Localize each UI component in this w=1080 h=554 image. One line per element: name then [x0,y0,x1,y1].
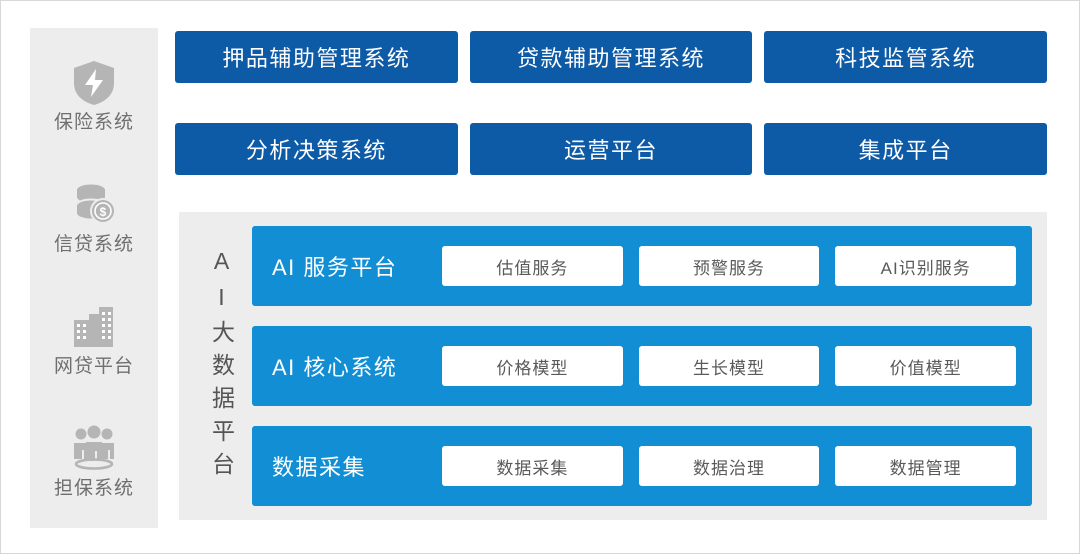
system-button-operations-platform[interactable]: 运营平台 [470,123,753,175]
ai-row-data-collection: 数据采集 数据采集 数据治理 数据管理 [252,426,1032,506]
ai-platform-vertical-label: AI大数据平台 [194,226,248,506]
diagram-frame: 保险系统 $ 信贷系统 [0,0,1080,554]
card-data-governance[interactable]: 数据治理 [639,446,820,486]
ai-row-label: AI 核心系统 [272,350,442,382]
people-group-icon [68,423,120,475]
sidebar-item-label: 信贷系统 [54,235,134,256]
svg-text:$: $ [100,205,107,219]
card-data-management[interactable]: 数据管理 [835,446,1016,486]
sidebar-item-label: 保险系统 [54,113,134,134]
ai-row-label: AI 服务平台 [272,250,442,282]
buildings-icon [68,301,120,353]
sidebar-item-guarantee[interactable]: 担保系统 [30,423,158,500]
ai-row-cards: 价格模型 生长模型 价值模型 [442,346,1016,386]
top-systems-row-1: 押品辅助管理系统 贷款辅助管理系统 科技监管系统 [175,31,1047,83]
card-price-model[interactable]: 价格模型 [442,346,623,386]
coins-dollar-icon: $ [68,179,120,231]
sidebar-item-insurance[interactable]: 保险系统 [30,57,158,134]
ai-row-service-platform: AI 服务平台 估值服务 预警服务 AI识别服务 [252,226,1032,306]
system-button-loan-aux[interactable]: 贷款辅助管理系统 [470,31,753,83]
card-value-model[interactable]: 价值模型 [835,346,1016,386]
system-button-analysis-decision[interactable]: 分析决策系统 [175,123,458,175]
ai-platform-vertical-text: AI大数据平台 [210,248,233,485]
shield-bolt-icon [68,57,120,109]
ai-platform-rows: AI 服务平台 估值服务 预警服务 AI识别服务 AI 核心系统 价格模型 生长… [252,226,1032,506]
system-button-tech-supervision[interactable]: 科技监管系统 [764,31,1047,83]
card-alert-service[interactable]: 预警服务 [639,246,820,286]
top-systems-row-2: 分析决策系统 运营平台 集成平台 [175,123,1047,175]
sidebar-item-label: 担保系统 [54,479,134,500]
ai-row-cards: 估值服务 预警服务 AI识别服务 [442,246,1016,286]
card-growth-model[interactable]: 生长模型 [639,346,820,386]
ai-row-core-system: AI 核心系统 价格模型 生长模型 价值模型 [252,326,1032,406]
card-valuation-service[interactable]: 估值服务 [442,246,623,286]
sidebar-item-credit[interactable]: $ 信贷系统 [30,179,158,256]
ai-bigdata-platform-panel: AI大数据平台 AI 服务平台 估值服务 预警服务 AI识别服务 AI 核心系统… [179,212,1047,520]
sidebar: 保险系统 $ 信贷系统 [30,28,158,528]
ai-row-label: 数据采集 [272,450,442,482]
sidebar-item-online-loan[interactable]: 网贷平台 [30,301,158,378]
system-button-integration-platform[interactable]: 集成平台 [764,123,1047,175]
sidebar-item-label: 网贷平台 [54,357,134,378]
system-button-collateral-aux[interactable]: 押品辅助管理系统 [175,31,458,83]
card-data-collection[interactable]: 数据采集 [442,446,623,486]
ai-row-cards: 数据采集 数据治理 数据管理 [442,446,1016,486]
card-ai-recognition-service[interactable]: AI识别服务 [835,246,1016,286]
